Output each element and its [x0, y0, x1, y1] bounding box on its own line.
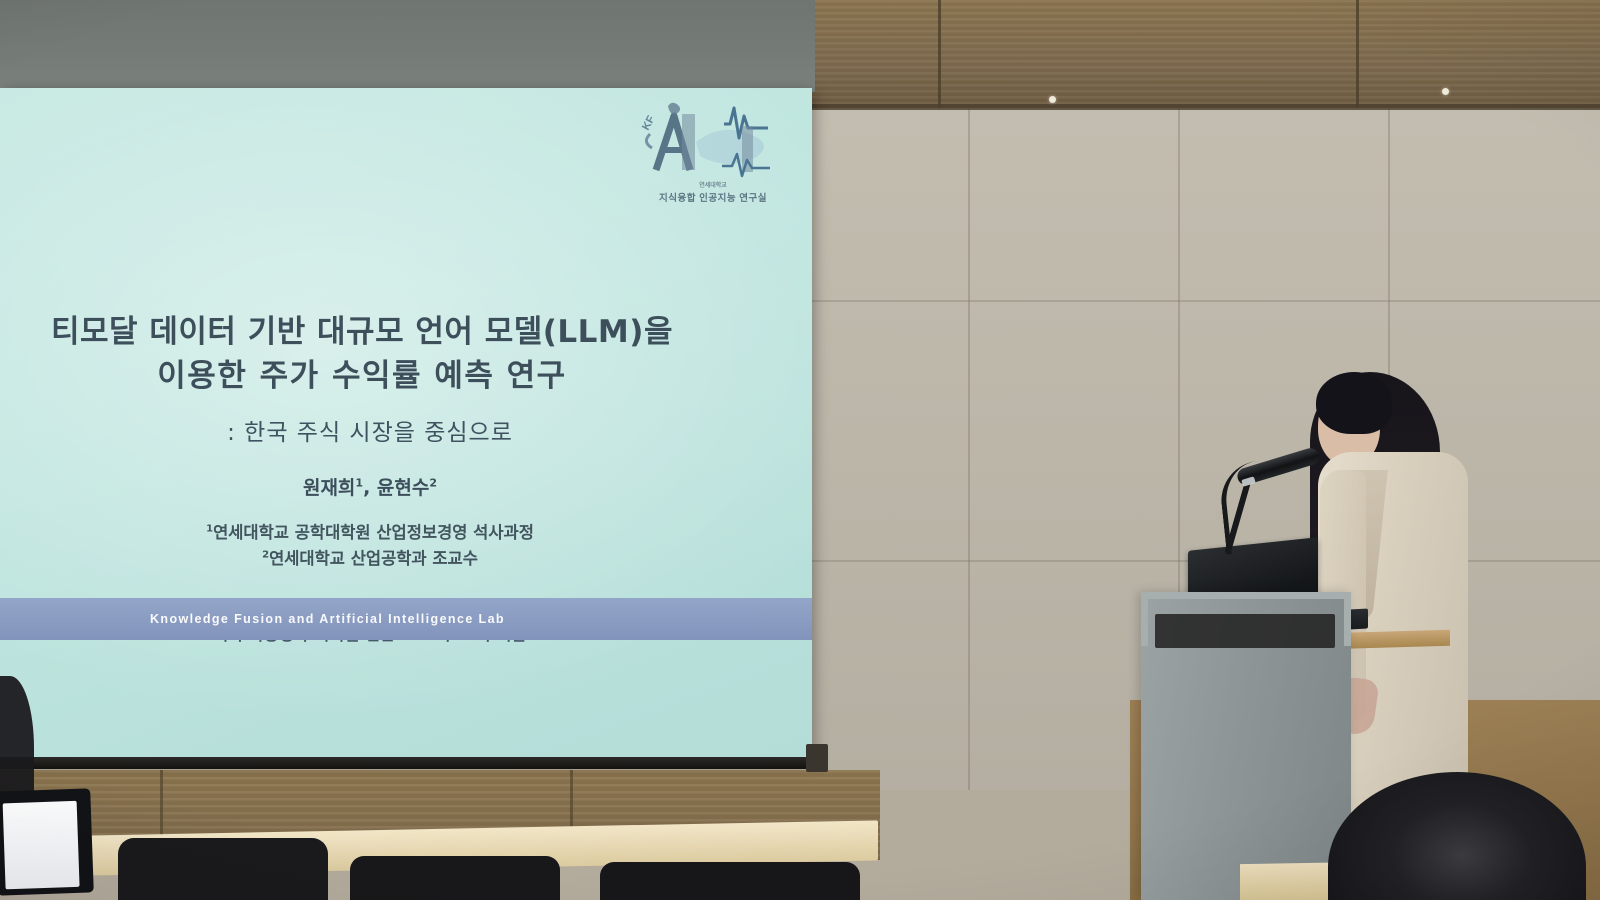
wall-fixture-dot	[1049, 96, 1056, 103]
author-2-marker: 2	[429, 477, 437, 490]
affiliation-2-text: 연세대학교 산업공학과 조교수	[269, 549, 478, 568]
slide-affiliations: 1연세대학교 공학대학원 산업정보경영 석사과정 2연세대학교 산업공학과 조교…	[0, 520, 740, 571]
slide-title: 티모달 데이터 기반 대규모 언어 모델(LLM)을 이용한 주가 수익률 예측…	[0, 310, 742, 398]
foreground-laptop-screen	[3, 801, 80, 890]
slide-footer-text: Knowledge Fusion and Artificial Intellig…	[150, 612, 505, 626]
wood-wall-panel-top	[812, 0, 1600, 108]
screen-bar-end-cap	[806, 744, 828, 772]
logo-caption-small: 연세대학교	[638, 180, 788, 189]
ceiling-shadow-band	[0, 0, 815, 92]
slide-subtitle: : 한국 주식 시장을 중심으로	[0, 413, 740, 447]
slide-title-line-2: 이용한 주가 수익률 예측 연구	[0, 354, 742, 398]
screen-weight-bar	[0, 757, 812, 769]
audience-chair	[118, 838, 328, 900]
projection-screen: KF 연세대학교 지식융합 인공지능 연구실 티모달 데이터 기반 대규모 언어…	[0, 88, 812, 760]
logo-caption: 연세대학교 지식융합 인공지능 연구실	[638, 180, 788, 204]
presenter-hair-front	[1316, 372, 1392, 434]
audience-chair	[350, 856, 560, 900]
affiliation-2: 2연세대학교 산업공학과 조교수	[0, 546, 740, 572]
author-1-marker: 1	[355, 477, 363, 490]
podium-top-rail	[1141, 592, 1351, 646]
foreground-laptop	[0, 788, 94, 895]
presentation-photo: KF 연세대학교 지식융합 인공지능 연구실 티모달 데이터 기반 대규모 언어…	[0, 0, 1600, 900]
wall-seam	[812, 300, 1600, 302]
author-2-name: , 윤현수	[363, 477, 429, 499]
affiliation-1-text: 연세대학교 공학대학원 산업정보경영 석사과정	[213, 523, 534, 542]
svg-text:KF: KF	[640, 114, 658, 133]
logo-caption-text: 지식융합 인공지능 연구실	[659, 193, 767, 204]
audience-chair	[600, 862, 860, 900]
projected-slide: KF 연세대학교 지식융합 인공지능 연구실 티모달 데이터 기반 대규모 언어…	[0, 88, 812, 760]
wood-panel-edge	[812, 104, 1600, 110]
slide-footer-band: Knowledge Fusion and Artificial Intellig…	[0, 598, 812, 640]
slide-authors: 원재희1, 윤현수2	[0, 473, 740, 500]
wood-panel-seam	[938, 0, 941, 108]
wall-seam	[968, 0, 970, 790]
wood-panel-seam	[1356, 0, 1359, 108]
wall-fixture-dot	[1442, 88, 1449, 95]
slide-title-line-1: 티모달 데이터 기반 대규모 언어 모델(LLM)을	[0, 310, 742, 354]
author-1-name: 원재희	[303, 477, 355, 499]
affiliation-1: 1연세대학교 공학대학원 산업정보경영 석사과정	[0, 520, 740, 546]
